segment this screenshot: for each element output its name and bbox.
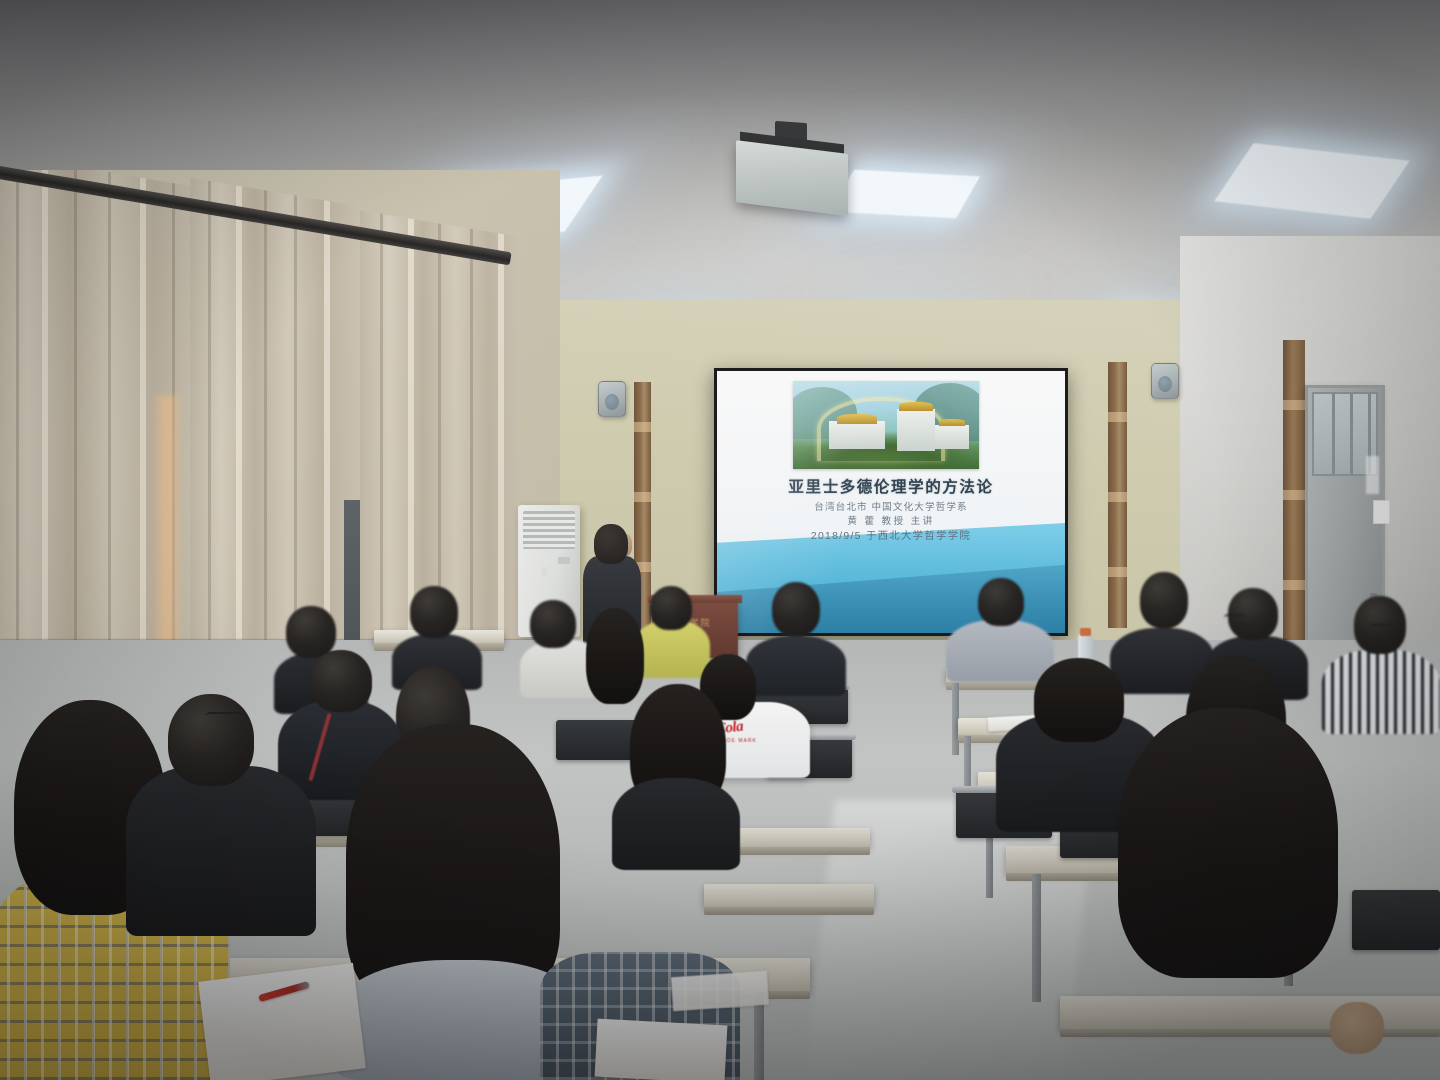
wall-notice	[1366, 456, 1379, 494]
presenter-head	[594, 524, 628, 564]
light-switch[interactable]	[1373, 500, 1390, 524]
speaker-icon	[598, 381, 626, 417]
classroom-photo: 亚里士多德伦理学的方法论 台湾台北市 中国文化大学哲学系 黄 藿 教授 主讲 2…	[0, 0, 1440, 1080]
ceiling-light-panel	[830, 170, 980, 219]
wall-pillar	[1283, 340, 1305, 670]
speaker-icon	[1151, 363, 1179, 399]
wall-pillar	[1108, 362, 1127, 628]
floor-shading	[0, 760, 1440, 1080]
